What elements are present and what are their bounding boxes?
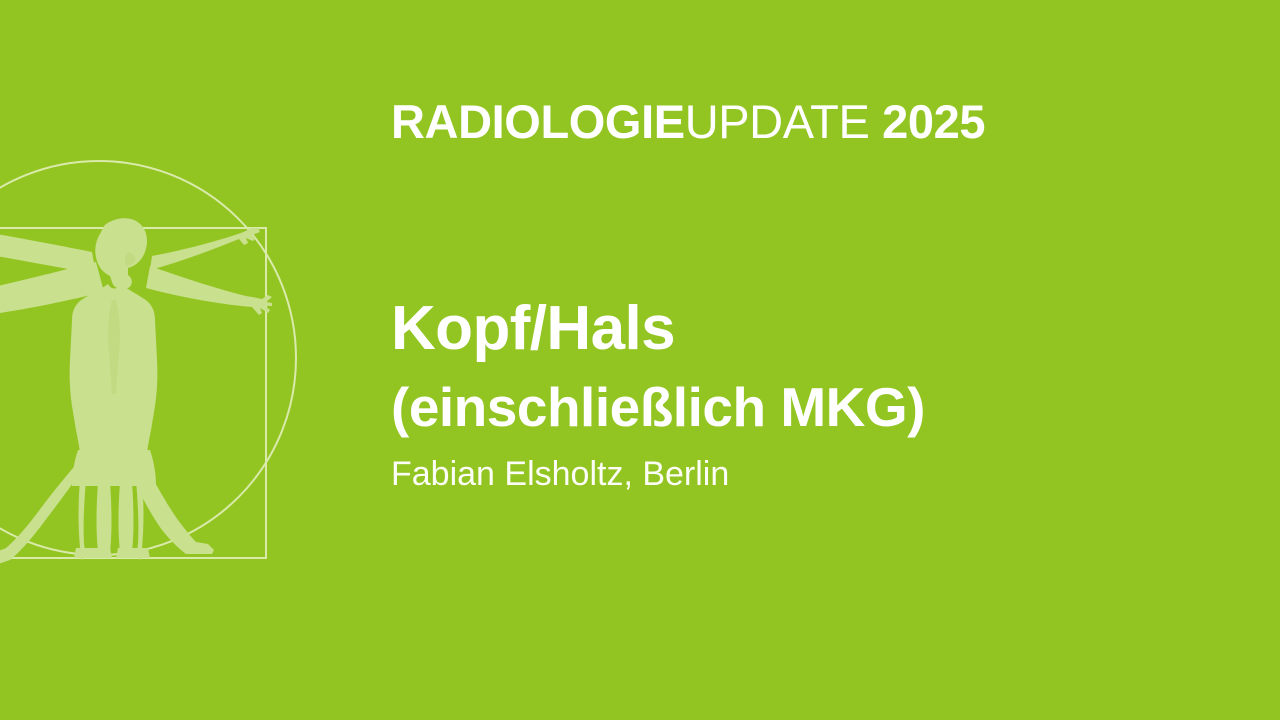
page-title: Kopf/Hals	[391, 296, 1211, 363]
vitruvian-figure	[0, 218, 272, 568]
text-column: RADIOLOGIEUPDATE2025 Kopf/Hals (einschli…	[391, 0, 1211, 720]
page-subtitle: (einschließlich MKG)	[391, 377, 1211, 439]
brand-year: 2025	[869, 95, 985, 148]
author-line: Fabian Elsholtz, Berlin	[391, 454, 1211, 495]
square-outline	[0, 228, 266, 558]
circle-outline	[0, 161, 296, 555]
brand-header: RADIOLOGIEUPDATE2025	[391, 97, 985, 146]
brand-name-strong: RADIOLOGIE	[391, 95, 685, 148]
title-block: Kopf/Hals (einschließlich MKG) Fabian El…	[391, 296, 1211, 494]
brand-name-light: UPDATE	[685, 95, 870, 148]
vitruvian-man-artwork	[0, 0, 320, 720]
presentation-title-slide: RADIOLOGIEUPDATE2025 Kopf/Hals (einschli…	[0, 0, 1280, 720]
